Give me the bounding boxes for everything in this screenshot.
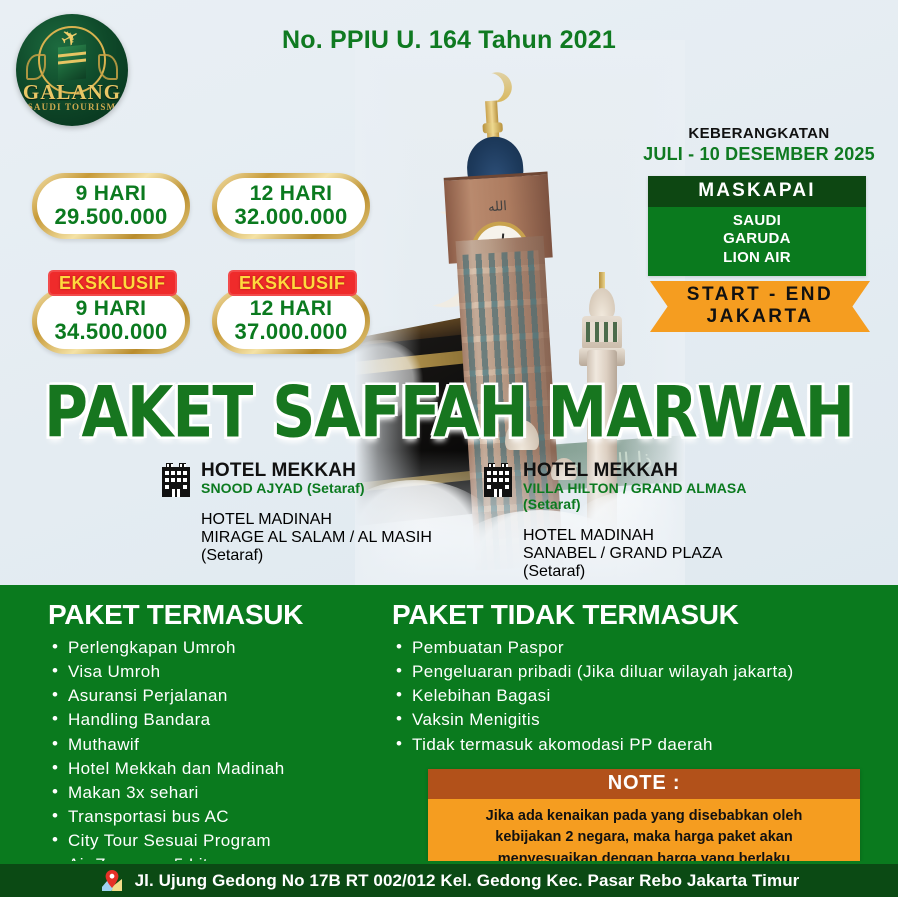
excluded-list: Pembuatan Paspor Pengeluaran pribadi (Ji… xyxy=(392,636,862,757)
excluded-column: PAKET TIDAK TERMASUK Pembuatan Paspor Pe… xyxy=(392,599,862,757)
included-title: PAKET TERMASUK xyxy=(48,599,378,631)
hotel-mekkah-text: HOTEL MEKKAH SNOOD AJYAD (Setaraf) xyxy=(201,460,365,497)
hotel-madinah-value-2: (Setaraf) xyxy=(523,563,747,581)
price-amount: 32.000.000 xyxy=(234,205,347,230)
price-duration: 12 HARI xyxy=(250,183,333,205)
list-item: Transportasi bus AC xyxy=(48,805,378,829)
list-item: Tidak termasuk akomodasi PP daerah xyxy=(392,733,862,757)
footer-bar: Jl. Ujung Gedong No 17B RT 002/012 Kel. … xyxy=(0,864,898,897)
exclusive-badge: EKSKLUSIF xyxy=(228,270,357,296)
hotel-mekkah-text: HOTEL MEKKAH VILLA HILTON / GRAND ALMASA… xyxy=(523,460,747,513)
hotel-madinah-block: HOTEL MADINAH MIRAGE AL SALAM / AL MASIH… xyxy=(160,511,432,565)
packages-panel: PAKET TERMASUK Perlengkapan Umroh Visa U… xyxy=(0,585,898,897)
note-line-2: kebijakan 2 negara, maka harga paket aka… xyxy=(444,827,844,848)
list-item: Handling Bandara xyxy=(48,708,378,732)
price-duration: 9 HARI xyxy=(76,183,147,205)
airline-list: SAUDI GARUDA LION AIR xyxy=(648,207,866,276)
hotel-mekkah-label: HOTEL MEKKAH xyxy=(201,460,365,481)
list-item: Asuransi Perjalanan xyxy=(48,684,378,708)
hotel-mekkah-label: HOTEL MEKKAH xyxy=(523,460,747,481)
price-duration: 12 HARI xyxy=(250,298,333,320)
map-pin-icon xyxy=(99,869,125,893)
list-item: Hotel Mekkah dan Madinah xyxy=(48,757,378,781)
airline-item: LION AIR xyxy=(648,249,866,267)
footer-address: Jl. Ujung Gedong No 17B RT 002/012 Kel. … xyxy=(135,871,800,891)
hotel-mekkah-value: VILLA HILTON / GRAND ALMASA xyxy=(523,481,747,497)
departure-label: KEBERANGKATAN xyxy=(648,125,870,142)
airline-title: MASKAPAI xyxy=(648,176,866,207)
hotel-madinah-label: HOTEL MADINAH xyxy=(201,511,432,529)
hotel-madinah-value: SANABEL / GRAND PLAZA xyxy=(523,545,747,563)
airline-item: SAUDI xyxy=(648,212,866,230)
poster-root: ذا الدنيا حسنة الله xyxy=(0,0,898,897)
price-card-12-hari-eksklusif[interactable]: 12 HARI 37.000.000 xyxy=(212,288,370,354)
hotel-group-left: HOTEL MEKKAH SNOOD AJYAD (Setaraf) HOTEL… xyxy=(160,460,432,565)
price-amount: 34.500.000 xyxy=(54,320,167,345)
list-item: Muthawif xyxy=(48,733,378,757)
license-number: No. PPIU U. 164 Tahun 2021 xyxy=(0,26,898,55)
price-duration: 9 HARI xyxy=(76,298,147,320)
hotel-mekkah-row: HOTEL MEKKAH SNOOD AJYAD (Setaraf) xyxy=(160,460,432,497)
included-list: Perlengkapan Umroh Visa Umroh Asuransi P… xyxy=(48,636,378,897)
excluded-title: PAKET TIDAK TERMASUK xyxy=(392,599,862,631)
price-card-9-hari[interactable]: 9 HARI 29.500.000 xyxy=(32,173,190,239)
price-card-12-hari[interactable]: 12 HARI 32.000.000 xyxy=(212,173,370,239)
logo-tagline: SAUDI TOURISM xyxy=(16,102,128,112)
list-item: Pengeluaran pribadi (Jika diluar wilayah… xyxy=(392,660,862,684)
airline-box: MASKAPAI SAUDI GARUDA LION AIR xyxy=(648,176,866,276)
list-item: Pembuatan Paspor xyxy=(392,636,862,660)
route-banner: START - END JAKARTA xyxy=(650,281,870,332)
list-item: Makan 3x sehari xyxy=(48,781,378,805)
hotel-building-icon xyxy=(160,463,192,497)
departure-date: JULI - 10 DESEMBER 2025 xyxy=(640,144,878,165)
hotel-mekkah-value: SNOOD AJYAD (Setaraf) xyxy=(201,481,365,497)
exclusive-badge: EKSKLUSIF xyxy=(48,270,177,296)
hotel-madinah-value: MIRAGE AL SALAM / AL MASIH xyxy=(201,529,432,547)
list-item: City Tour Sesuai Program xyxy=(48,829,378,853)
price-amount: 29.500.000 xyxy=(54,205,167,230)
airline-item: GARUDA xyxy=(648,230,866,248)
note-line-1: Jika ada kenaikan pada yang disebabkan o… xyxy=(444,806,844,827)
route-line1: START - END xyxy=(687,285,833,306)
package-title: PAKET SAFFAH MARWAH xyxy=(0,372,898,455)
hotel-madinah-label: HOTEL MADINAH xyxy=(523,527,747,545)
included-column: PAKET TERMASUK Perlengkapan Umroh Visa U… xyxy=(48,599,378,897)
hotel-mekkah-value-2: (Setaraf) xyxy=(523,497,747,513)
hotel-madinah-block: HOTEL MADINAH SANABEL / GRAND PLAZA (Set… xyxy=(482,527,747,581)
list-item: Visa Umroh xyxy=(48,660,378,684)
price-amount: 37.000.000 xyxy=(234,320,347,345)
hotel-mekkah-row: HOTEL MEKKAH VILLA HILTON / GRAND ALMASA… xyxy=(482,460,747,513)
hotel-group-right: HOTEL MEKKAH VILLA HILTON / GRAND ALMASA… xyxy=(482,460,747,581)
list-item: Vaksin Menigitis xyxy=(392,708,862,732)
hotel-madinah-value-2: (Setaraf) xyxy=(201,547,432,565)
list-item: Kelebihan Bagasi xyxy=(392,684,862,708)
hotel-building-icon xyxy=(482,463,514,497)
price-card-9-hari-eksklusif[interactable]: 9 HARI 34.500.000 xyxy=(32,288,190,354)
note-title: NOTE : xyxy=(428,769,860,799)
route-line2: JAKARTA xyxy=(707,306,814,328)
list-item: Perlengkapan Umroh xyxy=(48,636,378,660)
